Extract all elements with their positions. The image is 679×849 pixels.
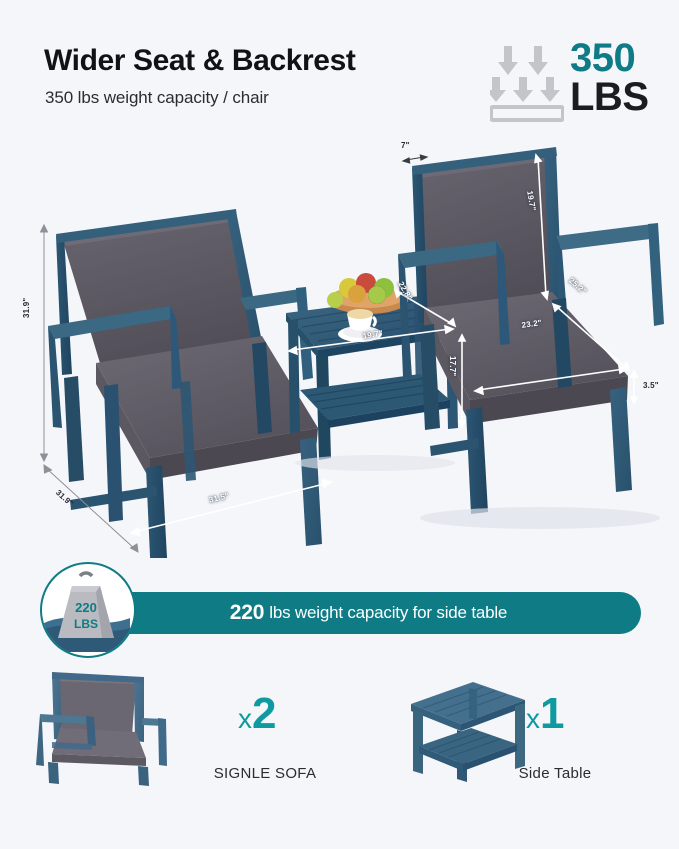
furniture-illustration xyxy=(0,128,679,558)
page-title: Wider Seat & Backrest xyxy=(44,44,355,78)
weight-capacity-badge: 350 LBS xyxy=(490,42,660,124)
left-chair xyxy=(48,209,322,558)
dim-table-height: 17.7" xyxy=(448,356,457,376)
badge-number: 350 xyxy=(570,38,635,78)
table-quantity-x: x xyxy=(526,703,540,734)
banner-text: 220 lbs weight capacity for side table xyxy=(96,592,641,634)
side-table-capacity-banner: 220 lbs weight capacity for side table xyxy=(96,592,641,634)
down-arrows-on-bar-icon xyxy=(490,44,564,122)
sofa-quantity: x2 xyxy=(238,692,275,741)
infographic-page: Wider Seat & Backrest 350 lbs weight cap… xyxy=(0,0,679,849)
product-scene: 31.9" 31.9" 31.5" 7" 19.7" 25.2" 23.2" 3… xyxy=(0,128,679,558)
set-contents-section: x2 SIGNLE SOFA xyxy=(0,660,679,820)
table-caption: Side Table xyxy=(490,765,620,782)
sofa-quantity-number: 2 xyxy=(252,689,275,738)
weight-badge-unit: LBS xyxy=(74,617,98,631)
banner-label: lbs weight capacity for side table xyxy=(269,603,507,623)
header-section: Wider Seat & Backrest 350 lbs weight cap… xyxy=(0,0,679,135)
single-sofa-chair-icon xyxy=(32,666,172,786)
weight-block-icon: 220 LBS xyxy=(42,564,130,652)
single-sofa-illustration xyxy=(32,666,172,786)
badge-unit: LBS xyxy=(570,77,649,117)
banner-number: 220 xyxy=(230,601,264,625)
sofa-caption: SIGNLE SOFA xyxy=(200,765,330,782)
table-quantity: x1 xyxy=(526,692,563,741)
page-subtitle: 350 lbs weight capacity / chair xyxy=(45,88,269,108)
dim-right-chair-arm-width: 7" xyxy=(401,141,410,150)
sofa-quantity-x: x xyxy=(238,703,252,734)
weight-220-badge: 220 LBS xyxy=(40,562,136,658)
weight-badge-number: 220 xyxy=(75,600,97,615)
dim-left-chair-height: 31.9" xyxy=(22,298,31,318)
table-quantity-number: 1 xyxy=(540,689,563,738)
dim-right-chair-cushion-thickness: 3.5" xyxy=(643,381,659,390)
